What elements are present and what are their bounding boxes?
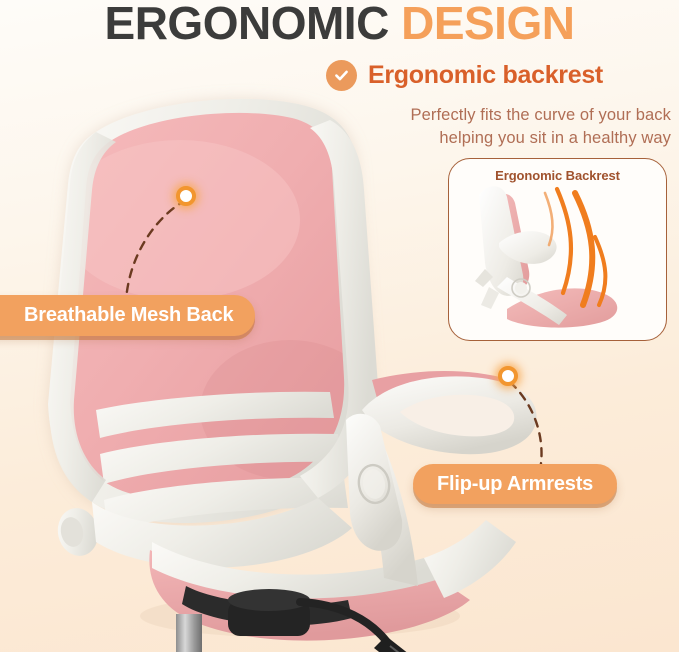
page-title-part-1: ERGONOMIC xyxy=(105,0,389,49)
backrest-curve-illustration xyxy=(449,159,666,340)
page-title: ERGONOMIC DESIGN xyxy=(0,0,679,50)
hotspot-marker-mesh[interactable] xyxy=(176,186,196,206)
page-title-part-2: DESIGN xyxy=(401,0,574,49)
callout-label: Breathable Mesh Back xyxy=(24,304,233,327)
inset-detail-card: Ergonomic Backrest xyxy=(448,158,667,341)
inset-card-title: Ergonomic Backrest xyxy=(449,168,666,183)
product-feature-banner: ERGONOMIC DESIGN Ergonomic backrest Perf… xyxy=(0,0,679,652)
callout-label: Flip-up Armrests xyxy=(437,473,593,496)
hotspot-marker-armrest[interactable] xyxy=(498,366,518,386)
callout-flip-up-armrests[interactable]: Flip-up Armrests xyxy=(413,464,617,504)
callout-breathable-mesh-back[interactable]: Breathable Mesh Back xyxy=(0,295,255,336)
